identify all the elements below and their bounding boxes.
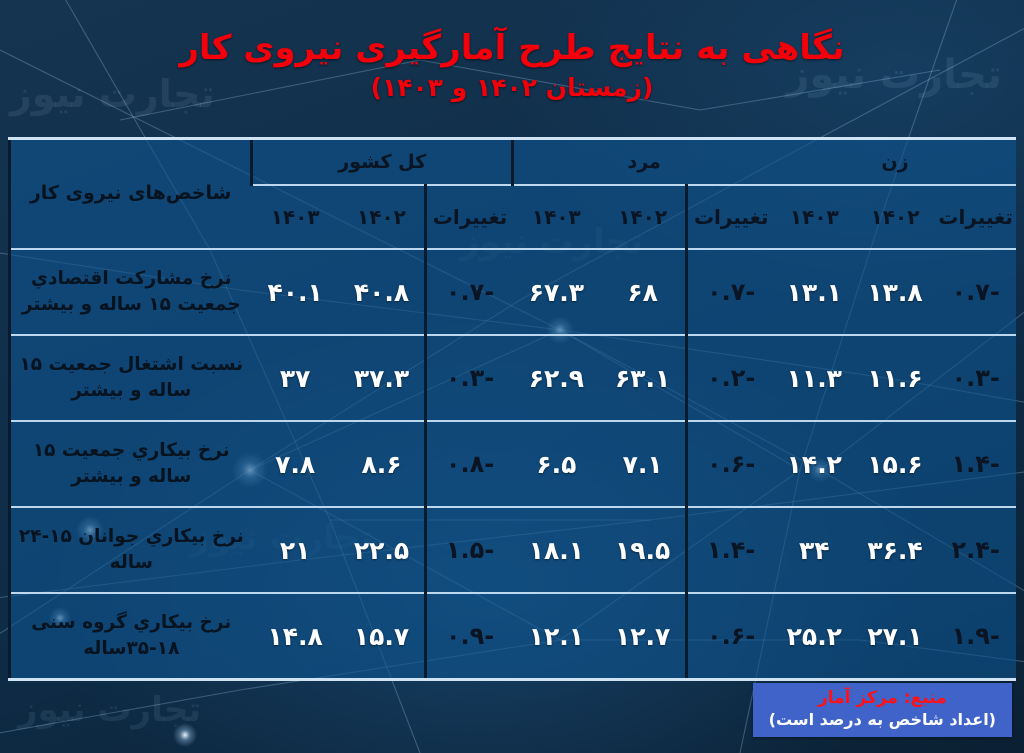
- cell-male-1402: ۱۹.۵: [600, 507, 687, 593]
- cell-total-1403: ۴۰.۱: [252, 249, 339, 335]
- cell-female-change: -۲.۴: [935, 507, 1016, 593]
- cell-female-change: -۰.۳: [935, 335, 1016, 421]
- cell-total-change: -۰.۳: [426, 335, 513, 421]
- cell-female-1403: ۲۵.۲: [774, 593, 855, 678]
- watermark-logo: تجارت نیوز: [18, 690, 201, 730]
- cell-female-change: -۰.۷: [935, 249, 1016, 335]
- subheader-female-1403: ۱۴۰۳: [774, 185, 855, 249]
- cell-female-1402: ۱۵.۶: [855, 421, 936, 507]
- cell-total-1402: ۱۵.۷: [339, 593, 426, 678]
- subheader-female-change: تغییرات: [935, 185, 1016, 249]
- cell-female-1403: ۱۱.۳: [774, 335, 855, 421]
- table-row: -۱.۹ ۲۷.۱ ۲۵.۲ -۰.۶ ۱۲.۷ ۱۲.۱ -۰.۹ ۱۵.۷ …: [10, 593, 1017, 678]
- cell-male-change: -۰.۶: [687, 421, 774, 507]
- cell-total-1402: ۸.۶: [339, 421, 426, 507]
- cell-total-change: -۰.۸: [426, 421, 513, 507]
- cell-total-1403: ۲۱: [252, 507, 339, 593]
- page-title: نگاهی به نتایج طرح آمارگیری نیروی کار: [0, 28, 1024, 69]
- subheader-male-1402: ۱۴۰۲: [600, 185, 687, 249]
- page-subtitle: (زمستان ۱۴۰۲ و ۱۴۰۳): [0, 73, 1024, 103]
- infographic-page: تجارت نیوز تجارت نیوز تجارت نیوز تجارت ن…: [0, 0, 1024, 753]
- cell-male-1402: ۱۲.۷: [600, 593, 687, 678]
- subheader-total-1403: ۱۴۰۳: [252, 185, 339, 249]
- table-row: -۱.۴ ۱۵.۶ ۱۴.۲ -۰.۶ ۷.۱ ۶.۵ -۰.۸ ۸.۶ ۷.۸…: [10, 421, 1017, 507]
- cell-male-1402: ۷.۱: [600, 421, 687, 507]
- subheader-male-1403: ۱۴۰۳: [513, 185, 600, 249]
- cell-total-change: -۰.۷: [426, 249, 513, 335]
- cell-female-1402: ۲۷.۱: [855, 593, 936, 678]
- indicator-column-header: شاخص‌های نیروی کار: [10, 140, 252, 249]
- source-box: منبع: مرکز آمار (اعداد شاخص به درصد است): [753, 683, 1012, 737]
- table-row: -۰.۷ ۱۳.۸ ۱۳.۱ -۰.۷ ۶۸ ۶۷.۳ -۰.۷ ۴۰.۸ ۴۰…: [10, 249, 1017, 335]
- source-label: منبع: مرکز آمار: [769, 688, 996, 709]
- subheader-male-change: تغییرات: [687, 185, 774, 249]
- cell-female-1402: ۱۱.۶: [855, 335, 936, 421]
- cell-total-change: -۰.۹: [426, 593, 513, 678]
- table-body: -۰.۷ ۱۳.۸ ۱۳.۱ -۰.۷ ۶۸ ۶۷.۳ -۰.۷ ۴۰.۸ ۴۰…: [10, 249, 1017, 678]
- cell-total-1403: ۱۴.۸: [252, 593, 339, 678]
- source-note: (اعداد شاخص به درصد است): [769, 710, 996, 730]
- cell-male-change: -۱.۴: [687, 507, 774, 593]
- cell-female-change: -۱.۴: [935, 421, 1016, 507]
- labor-force-table: زن مرد کل کشور شاخص‌های نیروی کار تغییرا…: [8, 140, 1016, 678]
- cell-male-1402: ۶۸: [600, 249, 687, 335]
- cell-total-1402: ۴۰.۸: [339, 249, 426, 335]
- cell-male-1403: ۱۲.۱: [513, 593, 600, 678]
- cell-row-label: نرخ بیکاري گروه سنی ۱۸-۳۵ساله: [10, 593, 252, 678]
- cell-female-1403: ۱۴.۲: [774, 421, 855, 507]
- subheader-female-1402: ۱۴۰۲: [855, 185, 936, 249]
- cell-male-1403: ۱۸.۱: [513, 507, 600, 593]
- group-header-male: مرد: [513, 140, 774, 185]
- cell-female-1403: ۳۴: [774, 507, 855, 593]
- table-row: -۲.۴ ۳۶.۴ ۳۴ -۱.۴ ۱۹.۵ ۱۸.۱ -۱.۵ ۲۲.۵ ۲۱…: [10, 507, 1017, 593]
- cell-male-change: -۰.۲: [687, 335, 774, 421]
- subheader-total-1402: ۱۴۰۲: [339, 185, 426, 249]
- cell-male-1403: ۶۲.۹: [513, 335, 600, 421]
- cell-male-1403: ۶.۵: [513, 421, 600, 507]
- title-block: نگاهی به نتایج طرح آمارگیری نیروی کار (ز…: [0, 28, 1024, 103]
- cell-female-change: -۱.۹: [935, 593, 1016, 678]
- cell-row-label: نرخ بیکاري جوانان ۱۵-۲۴ ساله: [10, 507, 252, 593]
- cell-row-label: نسبت اشتغال جمعیت ۱۵ ساله و بیشتر: [10, 335, 252, 421]
- cell-male-change: -۰.۷: [687, 249, 774, 335]
- cell-female-1402: ۱۳.۸: [855, 249, 936, 335]
- cell-female-1402: ۳۶.۴: [855, 507, 936, 593]
- cell-row-label: نرخ بیکاري جمعیت ۱۵ ساله و بیشتر: [10, 421, 252, 507]
- group-header-row: زن مرد کل کشور شاخص‌های نیروی کار: [10, 140, 1017, 185]
- cell-male-1402: ۶۳.۱: [600, 335, 687, 421]
- cell-total-1402: ۲۲.۵: [339, 507, 426, 593]
- cell-male-change: -۰.۶: [687, 593, 774, 678]
- subheader-total-change: تغییرات: [426, 185, 513, 249]
- cell-total-1403: ۳۷: [252, 335, 339, 421]
- group-header-total: کل کشور: [252, 140, 513, 185]
- cell-total-change: -۱.۵: [426, 507, 513, 593]
- cell-total-1403: ۷.۸: [252, 421, 339, 507]
- cell-row-label: نرخ مشارکت اقتصادي جمعیت ۱۵ ساله و بیشتر: [10, 249, 252, 335]
- cell-total-1402: ۳۷.۳: [339, 335, 426, 421]
- cell-female-1403: ۱۳.۱: [774, 249, 855, 335]
- group-header-female: زن: [774, 140, 1016, 185]
- table-row: -۰.۳ ۱۱.۶ ۱۱.۳ -۰.۲ ۶۳.۱ ۶۲.۹ -۰.۳ ۳۷.۳ …: [10, 335, 1017, 421]
- labor-force-table-container: زن مرد کل کشور شاخص‌های نیروی کار تغییرا…: [8, 137, 1016, 681]
- cell-male-1403: ۶۷.۳: [513, 249, 600, 335]
- table-head: زن مرد کل کشور شاخص‌های نیروی کار تغییرا…: [10, 140, 1017, 249]
